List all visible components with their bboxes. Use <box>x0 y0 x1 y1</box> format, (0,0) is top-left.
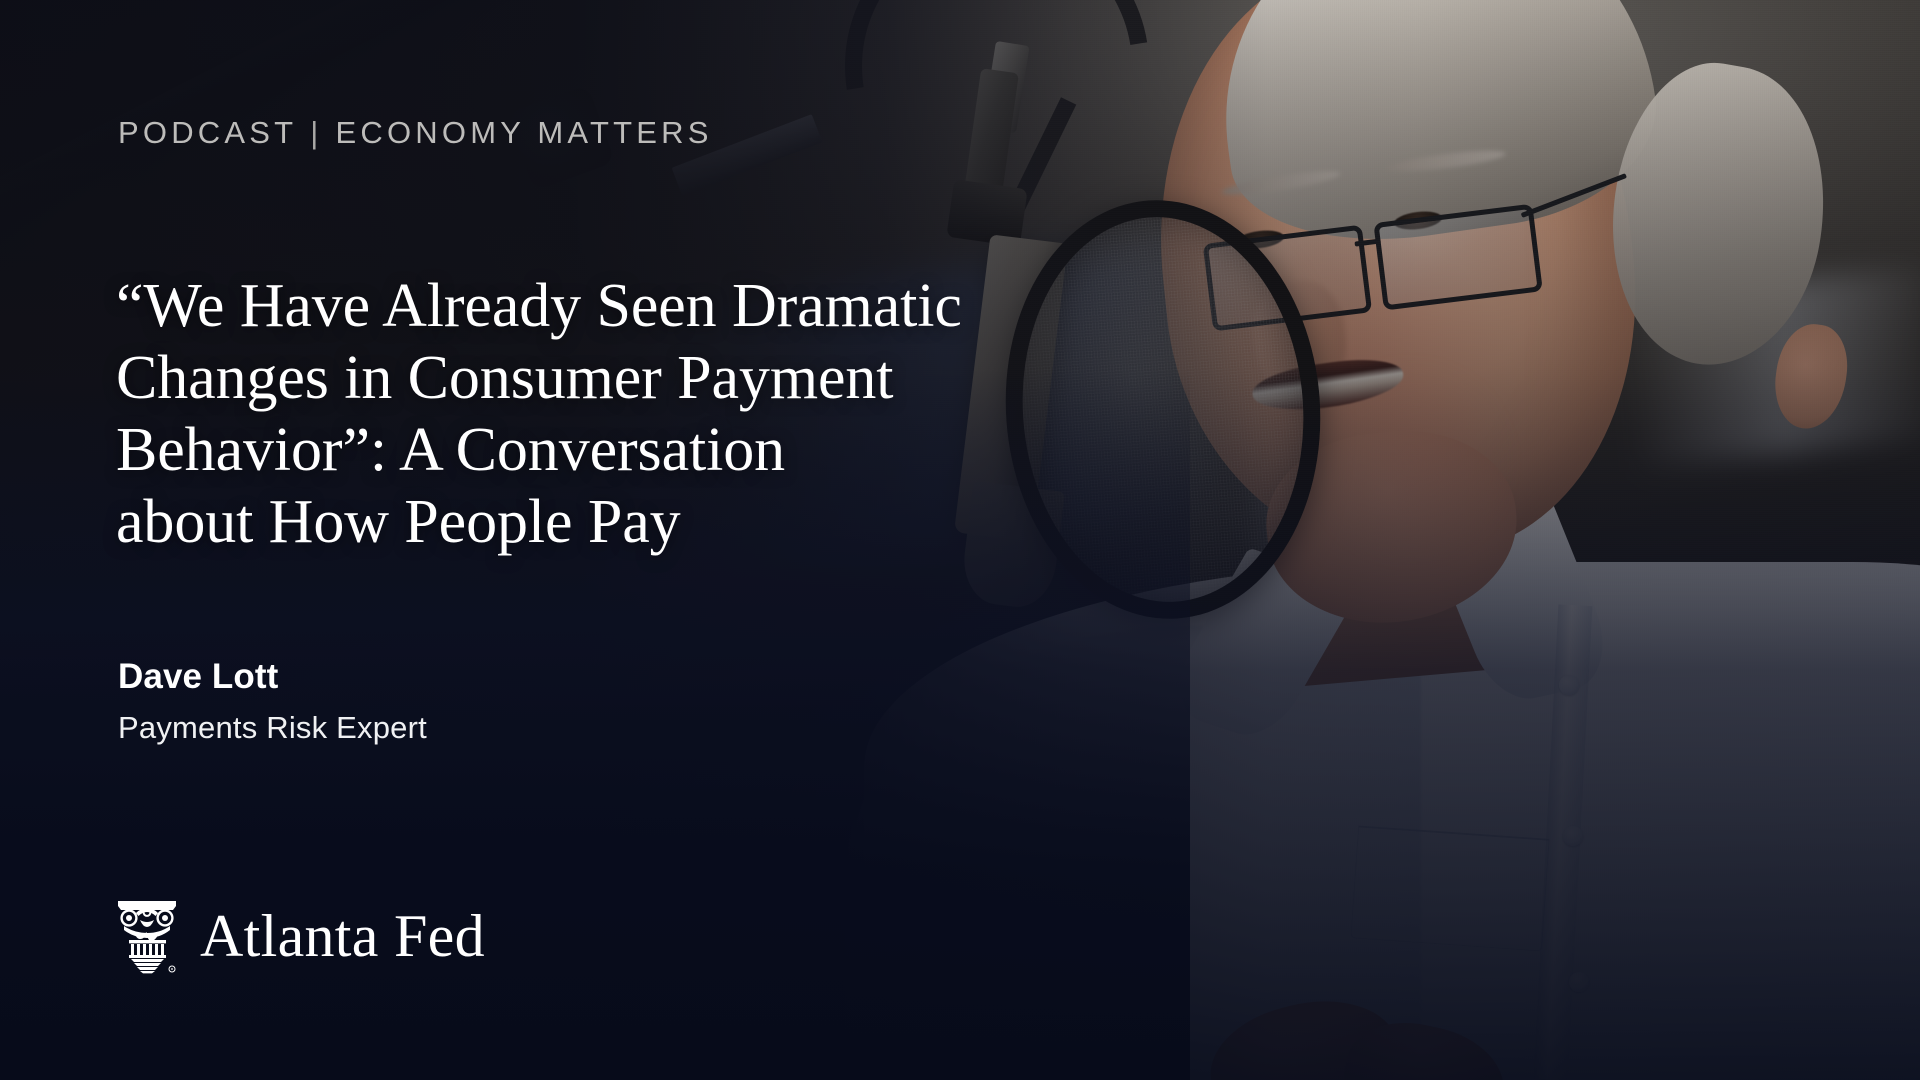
podcast-promo-banner: PODCAST|ECONOMY MATTERS “We Have Already… <box>0 0 1920 1080</box>
headline-line-2: Changes in Consumer Payment <box>116 342 1146 414</box>
kicker-eyebrow: PODCAST|ECONOMY MATTERS <box>118 115 713 151</box>
speaker-name: Dave Lott <box>118 657 278 697</box>
headline-line-1: “We Have Already Seen Dramatic <box>116 270 1146 342</box>
kicker-separator: | <box>297 115 335 150</box>
atlanta-fed-logo: Atlanta Fed <box>116 898 485 974</box>
speaker-title: Payments Risk Expert <box>118 710 427 746</box>
banner-content: PODCAST|ECONOMY MATTERS “We Have Already… <box>0 0 1920 1080</box>
page-title: “We Have Already Seen Dramatic Changes i… <box>116 270 1146 559</box>
atlanta-fed-wordmark: Atlanta Fed <box>200 906 485 966</box>
headline-line-3: Behavior”: A Conversation <box>116 414 1146 486</box>
headline-line-4: about How People Pay <box>116 486 1146 558</box>
kicker-category: PODCAST <box>118 115 297 150</box>
kicker-series: ECONOMY MATTERS <box>336 115 713 150</box>
ionic-column-capital-icon <box>116 898 178 974</box>
